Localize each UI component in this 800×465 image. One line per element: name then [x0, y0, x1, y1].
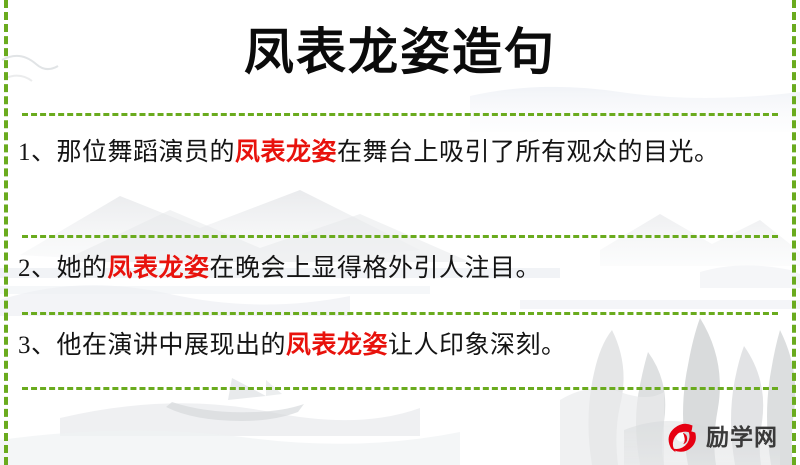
sentence-example-page: 凤表龙姿造句 1、那位舞蹈演员的凤表龙姿在舞台上吸引了所有观众的目光。 2、她的…: [0, 0, 800, 465]
sentence-item-1: 1、那位舞蹈演员的凤表龙姿在舞台上吸引了所有观众的目光。: [18, 132, 770, 174]
sentence-text-before-2: 她的: [57, 255, 108, 282]
sentence-text-after-3: 让人印象深刻。: [388, 332, 567, 359]
sentence-text-after-2: 在晚会上显得格外引人注目。: [210, 255, 542, 282]
red-swirl-flame-logo-icon: [662, 418, 700, 456]
sentence-number-3: 3、: [18, 332, 57, 359]
page-title: 凤表龙姿造句: [0, 22, 800, 82]
highlighted-idiom-3: 凤表龙姿: [286, 332, 388, 359]
highlighted-idiom-2: 凤表龙姿: [108, 255, 210, 282]
sentence-number-1: 1、: [18, 139, 57, 166]
sentence-item-2: 2、她的凤表龙姿在晚会上显得格外引人注目。: [18, 248, 770, 290]
sentence-number-2: 2、: [18, 255, 57, 282]
content-area: 凤表龙姿造句 1、那位舞蹈演员的凤表龙姿在舞台上吸引了所有观众的目光。 2、她的…: [0, 0, 800, 465]
sentence-item-3: 3、他在演讲中展现出的凤表龙姿让人印象深刻。: [18, 325, 770, 367]
sentence-text-before-1: 那位舞蹈演员的: [57, 139, 236, 166]
sentence-text-before-3: 他在演讲中展现出的: [57, 332, 287, 359]
sentence-text-after-1: 在舞台上吸引了所有观众的目光。: [337, 139, 720, 166]
highlighted-idiom-1: 凤表龙姿: [235, 139, 337, 166]
site-logo-text: 励学网: [706, 426, 778, 449]
site-logo[interactable]: 励学网: [662, 415, 788, 459]
